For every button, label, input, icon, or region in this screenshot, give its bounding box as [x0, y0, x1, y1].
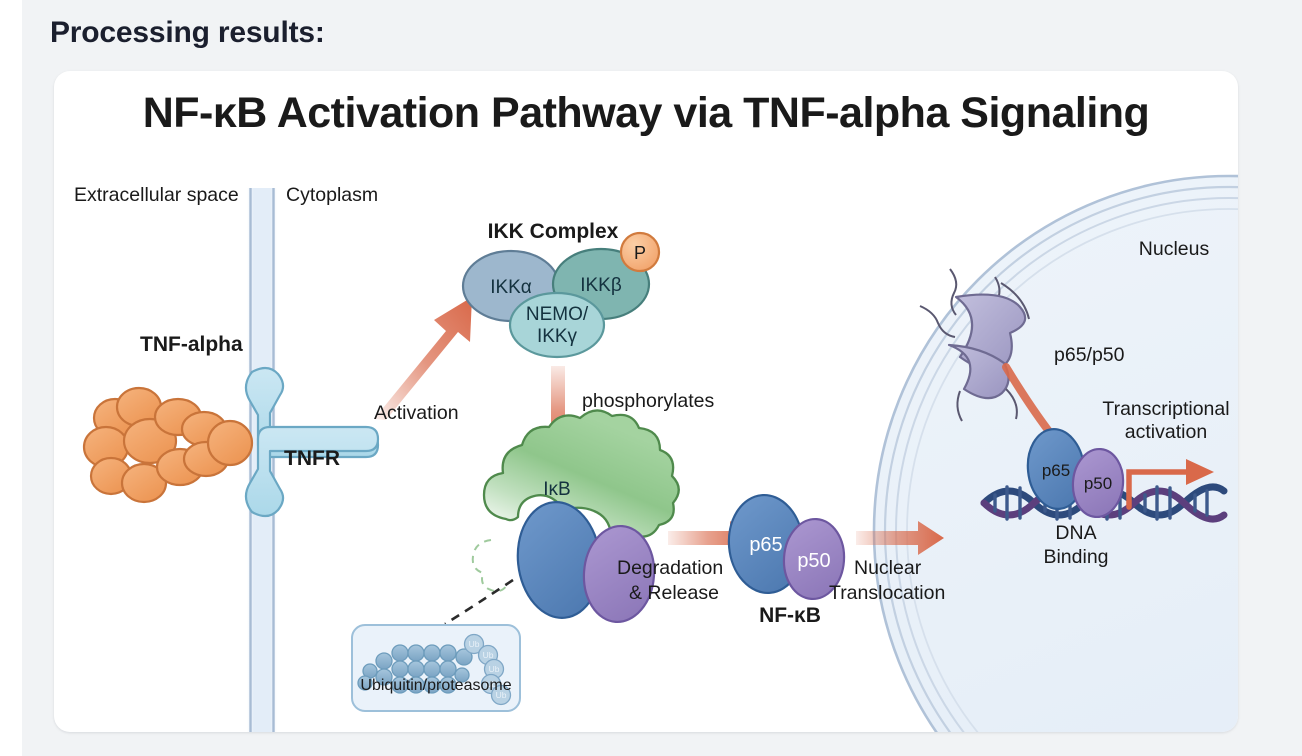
results-card: NF-κB Activation Pathway via TNF-alpha S…	[54, 71, 1238, 732]
degradation-label-line1: Degradation	[617, 557, 723, 579]
ub-tag-2: Ub	[483, 650, 494, 660]
ubiquitin-proteasome-label: Ubiquitin/proteasome	[360, 677, 511, 694]
p50-label-nucleus: p50	[1084, 474, 1112, 493]
ub-tag-1: Ub	[469, 639, 480, 649]
translocation-label-line1: Nuclear	[854, 557, 922, 579]
nucleus-label: Nucleus	[1139, 238, 1210, 260]
tnf-alpha-molecule	[84, 388, 252, 502]
tnf-alpha-label: TNF-alpha	[140, 333, 243, 356]
ikb-label: IκB	[543, 479, 570, 500]
dimer-transit-label: p65/p50	[1054, 344, 1125, 366]
ikk-alpha-label: IKKα	[490, 277, 532, 298]
p65-label-free: p65	[749, 534, 782, 556]
transcription-label-line1: Transcriptional	[1102, 398, 1229, 420]
dna-binding-label-line1: DNA	[1055, 522, 1096, 544]
cytoplasm-label: Cytoplasm	[286, 184, 378, 206]
translocation-label-line2: Translocation	[829, 582, 945, 604]
dna-binding-label-line2: Binding	[1043, 546, 1108, 568]
tnfr-receptor	[246, 368, 378, 516]
activation-label: Activation	[374, 402, 459, 424]
tnfr-label: TNFR	[284, 447, 340, 470]
phosphorylates-label: phosphorylates	[582, 390, 715, 412]
ubiquitin-proteasome-box: Ub Ub Ub Ub Ub	[352, 625, 520, 711]
ub-tag-3: Ub	[489, 664, 500, 674]
transcription-label-line2: activation	[1125, 421, 1207, 443]
nemo-label-line1: NEMO/	[526, 304, 589, 325]
pathway-diagram: Nucleus	[54, 71, 1238, 732]
phosphate-label: P	[634, 243, 646, 263]
nemo-subunit	[510, 293, 604, 357]
nfkb-label: NF-κB	[759, 604, 821, 627]
nemo-label-line2: IKKγ	[537, 326, 578, 347]
ikk-complex-title: IKK Complex	[488, 220, 619, 243]
p65-label-nucleus: p65	[1042, 461, 1070, 480]
ikk-beta-label: IKKβ	[580, 275, 622, 296]
screen: Processing results: NF-κB Activation Pat…	[0, 0, 1302, 756]
page-title: Processing results:	[50, 16, 325, 50]
degradation-label-line2: & Release	[629, 582, 719, 604]
p50-label-free: p50	[797, 550, 830, 572]
extracellular-space-label: Extracellular space	[74, 184, 239, 206]
